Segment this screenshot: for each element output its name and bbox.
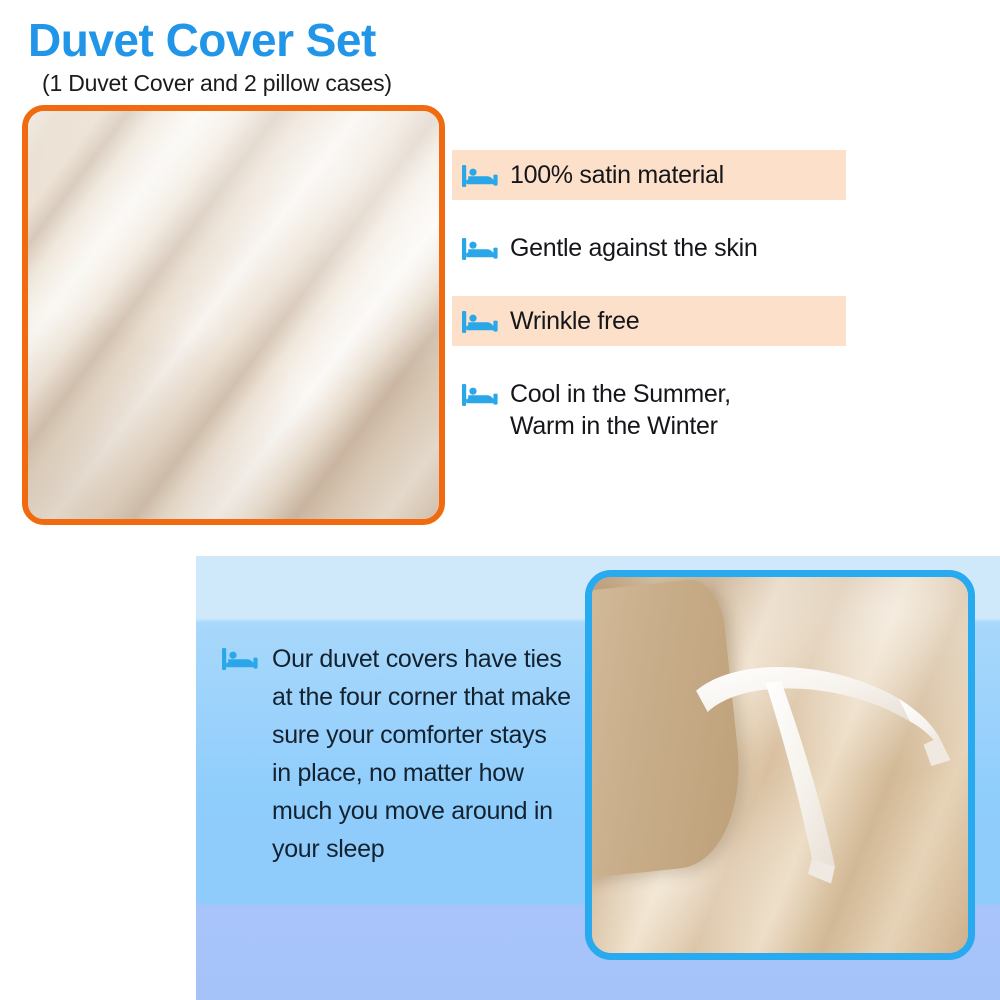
duvet-tie-image xyxy=(592,577,968,953)
bed-icon xyxy=(462,382,500,408)
ribbon-ties xyxy=(592,577,968,953)
bed-icon xyxy=(462,236,500,262)
page-title: Duvet Cover Set xyxy=(28,14,376,67)
infographic-canvas: Duvet Cover Set (1 Duvet Cover and 2 pil… xyxy=(0,0,1000,1000)
tie-feature-label: Our duvet covers have ties at the four c… xyxy=(272,640,572,868)
duvet-tie-photo xyxy=(585,570,975,960)
bed-icon xyxy=(462,163,500,189)
feature-item-satin-material: 100% satin material xyxy=(452,150,846,200)
feature-item-gentle-skin: Gentle against the skin xyxy=(452,223,846,273)
feature-label: Wrinkle free xyxy=(510,305,639,337)
bed-icon xyxy=(222,646,260,672)
feature-label: Cool in the Summer, Warm in the Winter xyxy=(510,378,731,442)
satin-fabric-image xyxy=(22,105,445,525)
feature-label: 100% satin material xyxy=(510,159,724,191)
page-subtitle: (1 Duvet Cover and 2 pillow cases) xyxy=(42,70,392,97)
feature-label: Gentle against the skin xyxy=(510,232,757,264)
feature-item-cool-warm: Cool in the Summer, Warm in the Winter xyxy=(452,369,846,451)
feature-item-wrinkle-free: Wrinkle free xyxy=(452,296,846,346)
tie-feature-text-block: Our duvet covers have ties at the four c… xyxy=(222,640,572,868)
satin-fabric-photo xyxy=(22,105,445,525)
bed-icon xyxy=(462,309,500,335)
feature-list: 100% satin material Gentle against the s… xyxy=(452,150,846,451)
